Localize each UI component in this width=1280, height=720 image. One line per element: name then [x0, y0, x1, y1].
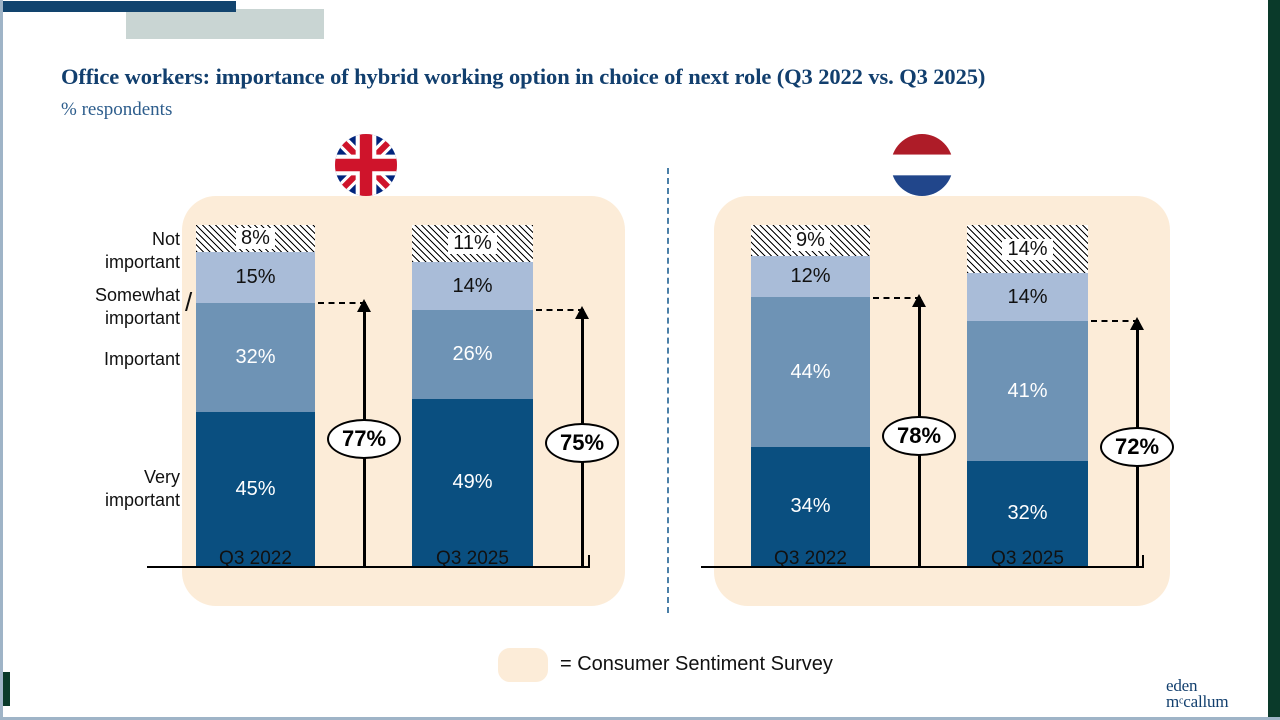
bar-uk-q3-2025[interactable]: 11% 14% 26% 49%	[412, 225, 533, 566]
legend-swatch-consumer-sentiment-survey	[498, 648, 548, 682]
segment-not-important: 11%	[412, 225, 533, 262]
bar-nl-q3-2022[interactable]: 9% 12% 44% 34%	[751, 225, 870, 566]
axis-label-not-important: Not important	[60, 228, 180, 273]
top-navy-accent-bar	[3, 1, 236, 12]
callout-badge-nl-2022: 78%	[882, 416, 956, 456]
x-axis-uk	[147, 566, 590, 568]
segment-not-important: 9%	[751, 225, 870, 256]
segment-somewhat-important: 12%	[751, 256, 870, 297]
segment-not-important: 14%	[967, 225, 1088, 273]
united-kingdom-flag-icon	[335, 134, 397, 196]
axis-label-slash: /	[185, 287, 192, 318]
segment-important: 26%	[412, 310, 533, 399]
logo-callum: callum	[1183, 692, 1228, 711]
callout-badge-nl-2025: 72%	[1100, 427, 1174, 467]
segment-very-important: 49%	[412, 399, 533, 566]
page-subtitle: % respondents	[61, 99, 172, 121]
segment-somewhat-important: 14%	[412, 262, 533, 310]
right-edge-bar	[1268, 0, 1280, 720]
axis-label-somewhat-important: Somewhat important	[60, 284, 180, 329]
logo-line-2: mccallum	[1166, 694, 1228, 710]
bar-nl-q3-2025[interactable]: 14% 14% 41% 32%	[967, 225, 1088, 566]
segment-important: 44%	[751, 297, 870, 447]
axis-tick-nl-end	[1142, 555, 1144, 568]
axis-label-important: Important	[60, 348, 180, 371]
bottom-left-accent-block	[3, 672, 10, 706]
left-edge-rule	[0, 0, 3, 720]
axis-tick-uk-end	[588, 555, 590, 568]
segment-somewhat-important: 15%	[196, 252, 315, 303]
axis-tick-nl-mid	[918, 555, 920, 568]
legend-label-consumer-sentiment-survey: = Consumer Sentiment Survey	[560, 653, 833, 676]
segment-very-important: 45%	[196, 412, 315, 566]
callout-badge-uk-2025: 75%	[545, 423, 619, 463]
axis-label-very-important: Very important	[60, 466, 180, 511]
logo-m: m	[1166, 692, 1179, 711]
callout-badge-uk-2022: 77%	[327, 419, 401, 459]
segment-somewhat-important: 14%	[967, 273, 1088, 321]
page-title: Office workers: importance of hybrid wor…	[61, 64, 985, 90]
region-divider	[667, 168, 669, 613]
eden-mccallum-logo: eden mccallum	[1166, 678, 1228, 709]
axis-tick-uk-mid	[363, 555, 365, 568]
slide-canvas: Office workers: importance of hybrid wor…	[0, 0, 1280, 720]
segment-important: 32%	[196, 303, 315, 412]
callout-arrow-head-uk-2022	[357, 299, 371, 312]
segment-not-important: 8%	[196, 225, 315, 252]
callout-arrow-head-uk-2025	[575, 306, 589, 319]
segment-important: 41%	[967, 321, 1088, 461]
callout-arrow-head-nl-2022	[912, 294, 926, 307]
callout-arrow-head-nl-2025	[1130, 317, 1144, 330]
netherlands-flag-icon	[891, 134, 953, 196]
x-axis-nl	[701, 566, 1144, 568]
top-gray-accent-block	[126, 9, 324, 39]
bar-uk-q3-2022[interactable]: 8% 15% 32% 45%	[196, 225, 315, 566]
